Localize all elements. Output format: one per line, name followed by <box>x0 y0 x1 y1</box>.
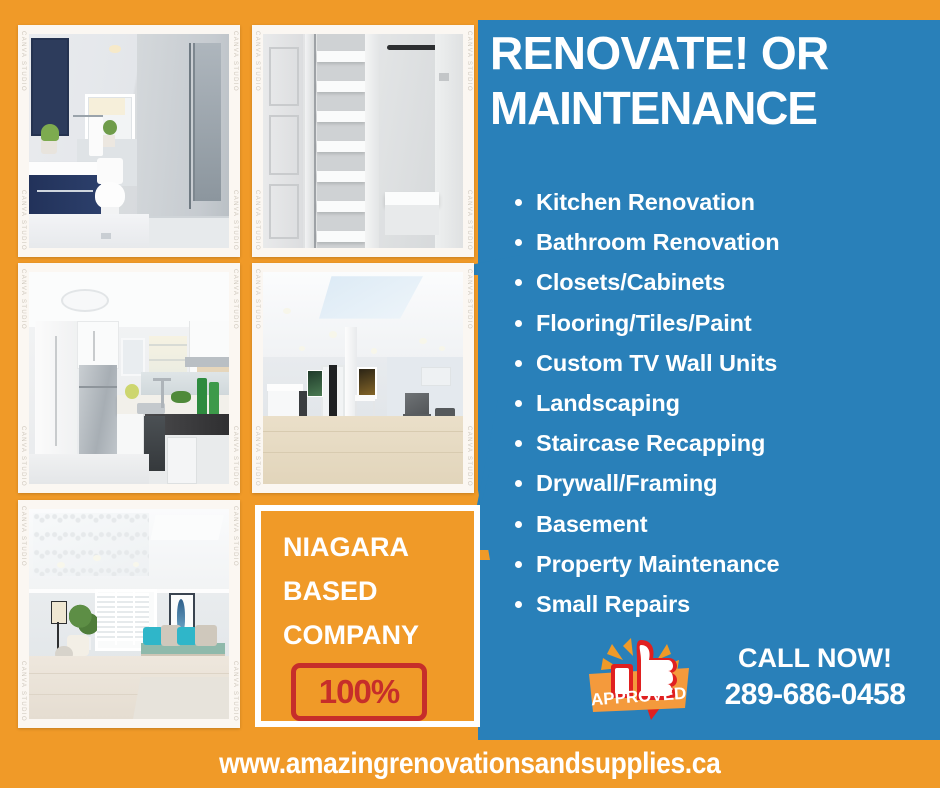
call-now-block: CALL NOW! 289-686-0458 <box>704 643 926 712</box>
photo-watermark: CANVA STUDIO <box>20 426 26 487</box>
list-item: Custom TV Wall Units <box>536 343 940 383</box>
poster-canvas: CANVA STUDIO CANVA STUDIO CANVA STUDIO C… <box>0 0 940 788</box>
niagara-line-3: COMPANY <box>261 613 474 657</box>
kitchen-renovation-photo: CANVA STUDIO CANVA STUDIO CANVA STUDIO C… <box>18 263 240 493</box>
photo-watermark: CANVA STUDIO <box>20 506 26 567</box>
thumbs-up-icon: APPROVED <box>585 634 697 726</box>
photo-watermark: CANVA STUDIO <box>254 269 260 330</box>
photo-watermark: CANVA STUDIO <box>232 31 238 92</box>
photo-watermark: CANVA STUDIO <box>466 269 472 330</box>
photo-watermark: CANVA STUDIO <box>254 426 260 487</box>
list-item: Drywall/Framing <box>536 463 940 503</box>
photo-watermark: CANVA STUDIO <box>20 661 26 722</box>
closet-cabinets-photo: CANVA STUDIO CANVA STUDIO CANVA STUDIO C… <box>252 25 474 257</box>
phone-number[interactable]: 289-686-0458 <box>704 678 926 712</box>
photo-watermark: CANVA STUDIO <box>232 661 238 722</box>
photo-watermark: CANVA STUDIO <box>232 269 238 330</box>
approved-badge: APPROVED <box>585 634 697 726</box>
photo-watermark: CANVA STUDIO <box>20 31 26 92</box>
list-item: Basement <box>536 504 940 544</box>
photo-watermark: CANVA STUDIO <box>466 190 472 251</box>
list-item: Flooring/Tiles/Paint <box>536 303 940 343</box>
bathroom-renovation-photo: CANVA STUDIO CANVA STUDIO CANVA STUDIO C… <box>18 25 240 257</box>
niagara-based-company-box: NIAGARA BASED COMPANY 100% <box>255 505 480 727</box>
website-url[interactable]: www.amazingrenovationsandsupplies.ca <box>219 747 720 781</box>
photo-watermark: CANVA STUDIO <box>232 506 238 567</box>
basement-finishing-photo: CANVA STUDIO CANVA STUDIO CANVA STUDIO C… <box>252 263 474 493</box>
photo-watermark: CANVA STUDIO <box>232 426 238 487</box>
hundred-percent-stamp: 100% <box>291 663 427 721</box>
list-item: Small Repairs <box>536 584 940 624</box>
photo-watermark: CANVA STUDIO <box>254 190 260 251</box>
website-bar: www.amazingrenovationsandsupplies.ca <box>0 740 940 788</box>
photo-watermark: CANVA STUDIO <box>232 190 238 251</box>
photo-watermark: CANVA STUDIO <box>466 31 472 92</box>
photo-watermark: CANVA STUDIO <box>466 426 472 487</box>
list-item: Bathroom Renovation <box>536 222 940 262</box>
living-room-flooring-photo: CANVA STUDIO CANVA STUDIO CANVA STUDIO C… <box>18 500 240 728</box>
list-item: Staircase Recapping <box>536 423 940 463</box>
list-item: Property Maintenance <box>536 544 940 584</box>
page-title: RENOVATE! OR MAINTENANCE <box>490 30 935 132</box>
list-item: Closets/Cabinets <box>536 262 940 302</box>
headline-line-2: MAINTENANCE <box>490 85 935 132</box>
list-item: Landscaping <box>536 383 940 423</box>
services-list: Kitchen Renovation Bathroom Renovation C… <box>512 182 940 624</box>
niagara-line-2: BASED <box>261 569 474 613</box>
photo-watermark: CANVA STUDIO <box>254 31 260 92</box>
call-now-label: CALL NOW! <box>704 643 926 674</box>
headline-line-1: RENOVATE! OR <box>490 27 829 79</box>
photo-watermark: CANVA STUDIO <box>20 190 26 251</box>
list-item: Kitchen Renovation <box>536 182 940 222</box>
niagara-line-1: NIAGARA <box>261 525 474 569</box>
photo-watermark: CANVA STUDIO <box>20 269 26 330</box>
